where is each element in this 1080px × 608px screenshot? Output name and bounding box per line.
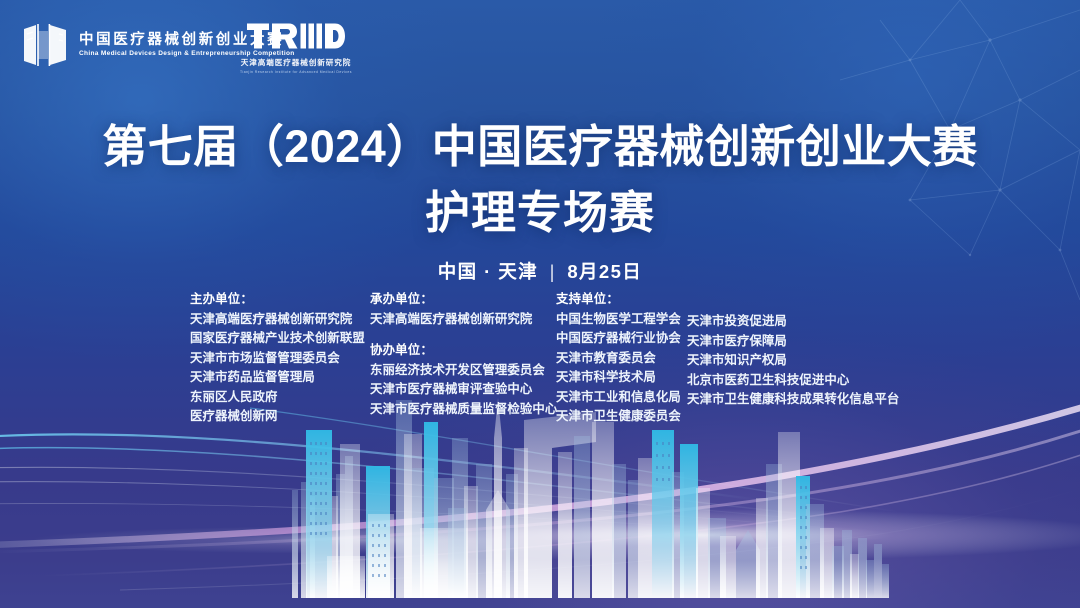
host-item: 国家医疗器械产业技术创新联盟 <box>190 329 365 349</box>
supporter-item: 中国生物医学工程学会 <box>556 310 681 330</box>
page-title-line2: 护理专场赛 <box>0 184 1080 242</box>
column-gap <box>370 329 557 341</box>
organizers-section: 主办单位： 天津高端医疗器械创新研究院 国家医疗器械产业技术创新联盟 天津市市场… <box>0 290 1080 430</box>
supporter-item: 天津市卫生健康科技成果转化信息平台 <box>687 390 899 410</box>
organizers-column-supporter-b: 天津市投资促进局 天津市医疗保障局 天津市知识产权局 北京市医药卫生科技促进中心… <box>687 312 899 410</box>
supporter-item: 天津市工业和信息化局 <box>556 388 681 408</box>
open-door-book-icon <box>22 22 70 68</box>
organizer-heading: 承办单位： <box>370 290 557 310</box>
host-item: 天津市药品监督管理局 <box>190 368 365 388</box>
co-organizer-item: 天津市医疗器械质量监督检验中心 <box>370 400 557 420</box>
organizers-column-organizer: 承办单位： 天津高端医疗器械创新研究院 协办单位： 东丽经济技术开发区管理委员会… <box>370 290 557 419</box>
event-date: 8月25日 <box>567 261 642 282</box>
host-item: 医疗器械创新网 <box>190 407 365 427</box>
supporter-item: 天津市投资促进局 <box>687 312 899 332</box>
co-organizer-item: 天津市医疗器械审评查验中心 <box>370 380 557 400</box>
triid-chinese-name: 天津高端医疗器械创新研究院 <box>241 57 351 68</box>
event-poster: 中国医疗器械创新创业大赛 China Medical Devices Desig… <box>0 0 1080 608</box>
supporter-item: 北京市医药卫生科技促进中心 <box>687 371 899 391</box>
poster-title-block: 第七届（2024）中国医疗器械创新创业大赛 护理专场赛 <box>0 118 1080 241</box>
organizers-column-host: 主办单位： 天津高端医疗器械创新研究院 国家医疗器械产业技术创新联盟 天津市市场… <box>190 290 365 427</box>
supporter-item: 天津市卫生健康委员会 <box>556 407 681 427</box>
organizer-item: 天津高端医疗器械创新研究院 <box>370 310 557 330</box>
organizers-column-supporter-a: 支持单位： 中国生物医学工程学会 中国医疗器械行业协会 天津市教育委员会 天津市… <box>556 290 681 427</box>
host-heading: 主办单位： <box>190 290 365 310</box>
supporter-item: 天津市科学技术局 <box>556 368 681 388</box>
host-item: 天津市市场监督管理委员会 <box>190 349 365 369</box>
co-organizer-item: 东丽经济技术开发区管理委员会 <box>370 361 557 381</box>
event-location-date: 中国 · 天津 | 8月25日 <box>0 258 1080 284</box>
page-title-line1: 第七届（2024）中国医疗器械创新创业大赛 <box>0 118 1080 176</box>
supporter-heading: 支持单位： <box>556 290 681 310</box>
co-organizer-heading: 协办单位： <box>370 341 557 361</box>
supporter-item: 中国医疗器械行业协会 <box>556 329 681 349</box>
triid-pinyin-name: Tianjin Research Institute for Advanced … <box>240 70 352 74</box>
host-item: 天津高端医疗器械创新研究院 <box>190 310 365 330</box>
supporter-item: 天津市知识产权局 <box>687 351 899 371</box>
event-location: 中国 · 天津 <box>438 261 538 282</box>
header-logo-bar: 中国医疗器械创新创业大赛 China Medical Devices Desig… <box>0 0 1080 92</box>
supporter-item: 天津市医疗保障局 <box>687 332 899 352</box>
host-item: 东丽区人民政府 <box>190 388 365 408</box>
triid-wordmark-icon <box>247 20 345 52</box>
triid-logo: 天津高端医疗器械创新研究院 Tianjin Research Institute… <box>240 20 352 74</box>
subtitle-separator: | <box>545 261 561 283</box>
supporter-item: 天津市教育委员会 <box>556 349 681 369</box>
